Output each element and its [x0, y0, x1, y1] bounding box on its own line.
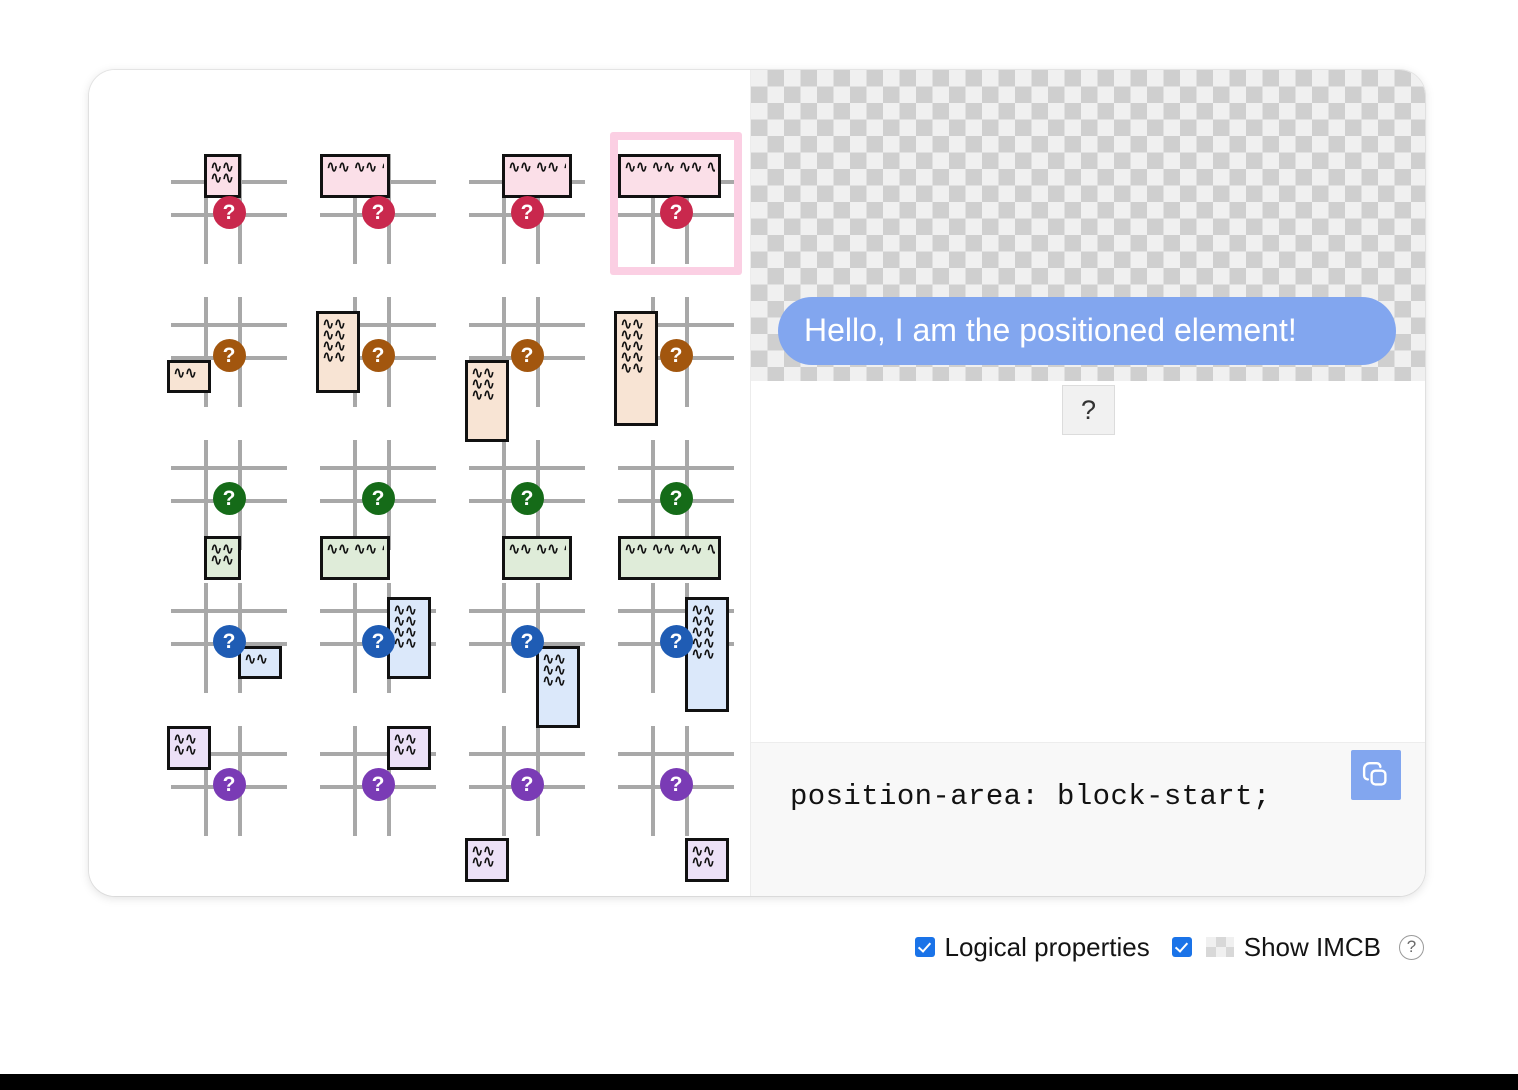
anchor-marker-icon: ? [213, 625, 246, 658]
squiggle-text-icon: ∿∿ [620, 362, 652, 375]
squiggle-text-icon: ∿∿ ∿∿ ∿∿ [326, 161, 384, 174]
containing-block-grid-icon: ∿∿∿∿? [163, 440, 295, 550]
containing-block-grid-icon: ∿∿∿∿∿∿∿∿∿∿? [610, 297, 742, 407]
position-area-option[interactable]: ∿∿∿∿? [163, 704, 295, 847]
anchor-marker-icon: ? [660, 339, 693, 372]
code-declaration: position-area: block-start; [790, 780, 1271, 813]
anchor-marker-icon: ? [660, 196, 693, 229]
positioned-box-icon: ∿∿∿∿ [465, 838, 509, 882]
grid-rail [618, 752, 734, 756]
grid-rail [171, 323, 287, 327]
containing-block-grid-icon: ∿∿∿∿? [163, 726, 295, 836]
squiggle-text-icon: ∿∿ [393, 744, 425, 757]
positioned-box-icon: ∿∿∿∿ [204, 536, 241, 580]
containing-block-grid-icon: ∿∿? [163, 583, 295, 693]
anchor-marker-icon: ? [660, 625, 693, 658]
anchor-marker-icon: ? [362, 625, 395, 658]
positioned-box-icon: ∿∿ ∿∿ ∿∿ [502, 154, 572, 198]
containing-block-grid-icon: ∿∿? [163, 297, 295, 407]
grid-rail [651, 726, 655, 836]
squiggle-text-icon: ∿∿ [471, 389, 503, 402]
code-panel: position-area: block-start; [751, 742, 1425, 896]
anchor-marker-icon: ? [362, 339, 395, 372]
squiggle-text-icon: ∿∿ [210, 172, 235, 185]
squiggle-text-icon: ∿∿ [393, 637, 425, 650]
squiggle-text-icon: ∿∿ [542, 675, 574, 688]
containing-block-grid-icon: ∿∿∿∿∿∿∿∿∿∿? [610, 583, 742, 693]
grid-rail [618, 466, 734, 470]
visualizer-card: ∿∿∿∿?∿∿ ∿∿ ∿∿?∿∿ ∿∿ ∿∿?∿∿ ∿∿ ∿∿ ∿∿?∿∿?∿∿… [89, 70, 1425, 896]
grid-rail [469, 752, 585, 756]
positioned-box-icon: ∿∿ ∿∿ ∿∿ [320, 536, 390, 580]
positioned-box-icon: ∿∿∿∿∿∿ [465, 360, 509, 442]
position-area-option[interactable]: ∿∿ ∿∿ ∿∿? [312, 132, 444, 275]
grid-rail [502, 726, 506, 836]
anchor-marker-icon: ? [213, 768, 246, 801]
position-area-option[interactable]: ∿∿∿∿∿∿? [461, 275, 593, 418]
squiggle-text-icon: ∿∿ [471, 856, 503, 869]
grid-rail [353, 440, 357, 550]
position-area-option[interactable]: ∿∿ ∿∿ ∿∿ ∿∿? [610, 132, 742, 275]
grid-rail [320, 466, 436, 470]
anchor-marker-icon: ? [213, 482, 246, 515]
positioned-box-icon: ∿∿∿∿ [387, 726, 431, 770]
containing-block-grid-icon: ∿∿ ∿∿ ∿∿? [461, 440, 593, 550]
anchor-marker-icon: ? [511, 196, 544, 229]
squiggle-text-icon: ∿∿ ∿∿ ∿∿ [326, 543, 384, 556]
containing-block-grid-icon: ∿∿∿∿∿∿? [461, 583, 593, 693]
containing-block-grid-icon: ∿∿∿∿∿∿? [461, 297, 593, 407]
squiggle-text-icon: ∿∿ ∿∿ ∿∿ ∿∿ [624, 543, 715, 556]
anchor-marker-icon: ? [511, 482, 544, 515]
show-imcb-control[interactable]: Show IMCB ? [1172, 932, 1424, 963]
containing-block-grid-icon: ∿∿∿∿∿∿∿∿? [312, 583, 444, 693]
grid-rail [353, 726, 357, 836]
position-area-option[interactable]: ∿∿? [163, 275, 295, 418]
containing-block-grid-icon: ∿∿∿∿? [461, 726, 593, 836]
grid-rail [469, 466, 585, 470]
position-area-option[interactable]: ∿∿∿∿? [163, 132, 295, 275]
position-area-option[interactable]: ∿∿∿∿? [610, 704, 742, 847]
squiggle-text-icon: ∿∿ ∿∿ ∿∿ [508, 161, 566, 174]
anchor-marker-icon: ? [362, 482, 395, 515]
position-area-option[interactable]: ∿∿? [163, 561, 295, 704]
positioned-box-icon: ∿∿∿∿∿∿∿∿ [316, 311, 360, 393]
position-area-grid[interactable]: ∿∿∿∿?∿∿ ∿∿ ∿∿?∿∿ ∿∿ ∿∿?∿∿ ∿∿ ∿∿ ∿∿?∿∿?∿∿… [163, 132, 742, 847]
anchor-marker-icon: ? [213, 339, 246, 372]
containing-block-grid-icon: ∿∿∿∿? [610, 726, 742, 836]
squiggle-text-icon: ∿∿ [210, 554, 235, 567]
logical-properties-control[interactable]: Logical properties [915, 932, 1150, 963]
positioned-element-bubble: Hello, I am the positioned element! [778, 297, 1396, 365]
grid-rail [651, 583, 655, 693]
positioned-box-icon: ∿∿ ∿∿ ∿∿ ∿∿ [618, 154, 721, 198]
logical-properties-checkbox[interactable] [915, 937, 935, 957]
position-area-option[interactable]: ∿∿∿∿∿∿∿∿? [312, 275, 444, 418]
anchor-marker-icon: ? [660, 768, 693, 801]
grid-rail [502, 583, 506, 693]
position-area-option[interactable]: ∿∿∿∿∿∿? [461, 561, 593, 704]
positioned-box-icon: ∿∿ [238, 646, 282, 679]
anchor-marker-icon: ? [660, 482, 693, 515]
containing-block-grid-icon: ∿∿ ∿∿ ∿∿? [312, 440, 444, 550]
squiggle-text-icon: ∿∿ [691, 648, 723, 661]
grid-rail [502, 440, 506, 550]
grid-rail [171, 609, 287, 613]
app-root: ∿∿∿∿?∿∿ ∿∿ ∿∿?∿∿ ∿∿ ∿∿?∿∿ ∿∿ ∿∿ ∿∿?∿∿?∿∿… [0, 0, 1518, 1090]
copy-icon[interactable] [1351, 750, 1401, 800]
squiggle-text-icon: ∿∿ [244, 653, 276, 666]
checkerboard-swatch-icon [1206, 937, 1234, 957]
containing-block-grid-icon: ∿∿∿∿∿∿∿∿? [312, 297, 444, 407]
squiggle-text-icon: ∿∿ [691, 856, 723, 869]
help-icon[interactable]: ? [1399, 935, 1424, 960]
grid-rail [353, 583, 357, 693]
squiggle-text-icon: ∿∿ ∿∿ ∿∿ [508, 543, 566, 556]
positioned-box-icon: ∿∿ ∿∿ ∿∿ ∿∿ [618, 536, 721, 580]
containing-block-grid-icon: ∿∿∿∿? [163, 154, 295, 264]
anchor-marker-icon: ? [511, 768, 544, 801]
anchor-marker-icon: ? [213, 196, 246, 229]
logical-properties-label: Logical properties [945, 932, 1150, 963]
grid-rail [204, 440, 208, 550]
squiggle-text-icon: ∿∿ ∿∿ ∿∿ ∿∿ [624, 161, 715, 174]
position-area-picker-pane: ∿∿∿∿?∿∿ ∿∿ ∿∿?∿∿ ∿∿ ∿∿?∿∿ ∿∿ ∿∿ ∿∿?∿∿?∿∿… [89, 70, 751, 896]
show-imcb-checkbox[interactable] [1172, 937, 1192, 957]
squiggle-text-icon: ∿∿ [173, 744, 205, 757]
anchor-marker-icon: ? [362, 196, 395, 229]
anchor-marker-icon: ? [511, 625, 544, 658]
squiggle-text-icon: ∿∿ [322, 351, 354, 364]
positioned-box-icon: ∿∿∿∿ [167, 726, 211, 770]
bottom-letterbox [0, 1074, 1518, 1090]
containing-block-grid-icon: ∿∿ ∿∿ ∿∿ ∿∿? [610, 154, 742, 264]
containing-block-grid-icon: ∿∿ ∿∿ ∿∿? [461, 154, 593, 264]
grid-rail [651, 440, 655, 550]
preview-pane: Hello, I am the positioned element! ? po… [751, 70, 1425, 896]
positioned-box-icon: ∿∿∿∿∿∿∿∿∿∿ [614, 311, 658, 426]
position-area-option[interactable]: ∿∿∿∿? [312, 704, 444, 847]
grid-rail [469, 609, 585, 613]
positioned-box-icon: ∿∿∿∿∿∿∿∿∿∿ [685, 597, 729, 712]
positioned-box-icon: ∿∿ [167, 360, 211, 393]
position-area-option[interactable]: ∿∿∿∿∿∿∿∿∿∿? [610, 561, 742, 704]
grid-rail [469, 323, 585, 327]
containing-block-grid-icon: ∿∿ ∿∿ ∿∿? [312, 154, 444, 264]
anchor-element[interactable]: ? [1062, 385, 1115, 435]
positioned-box-icon: ∿∿ ∿∿ ∿∿ [320, 154, 390, 198]
position-area-option[interactable]: ∿∿ ∿∿ ∿∿? [461, 132, 593, 275]
copy-icon-glyph [1361, 760, 1391, 790]
grid-rail [171, 466, 287, 470]
containing-block-grid-icon: ∿∿∿∿? [312, 726, 444, 836]
squiggle-text-icon: ∿∿ [173, 367, 205, 380]
containing-block-grid-icon: ∿∿ ∿∿ ∿∿ ∿∿? [610, 440, 742, 550]
footer-controls: Logical properties Show IMCB ? [0, 924, 1518, 970]
anchor-marker-icon: ? [362, 768, 395, 801]
anchor-marker-icon: ? [511, 339, 544, 372]
positioned-box-icon: ∿∿ ∿∿ ∿∿ [502, 536, 572, 580]
position-area-option[interactable]: ∿∿ ∿∿ ∿∿? [312, 418, 444, 561]
positioned-box-icon: ∿∿∿∿ [204, 154, 241, 198]
positioned-box-icon: ∿∿∿∿∿∿ [536, 646, 580, 728]
position-area-option[interactable]: ∿∿∿∿? [163, 418, 295, 561]
positioned-box-icon: ∿∿∿∿ [685, 838, 729, 882]
position-area-option[interactable]: ∿∿ ∿∿ ∿∿ ∿∿? [610, 418, 742, 561]
position-area-option[interactable]: ∿∿∿∿∿∿∿∿? [312, 561, 444, 704]
show-imcb-label: Show IMCB [1244, 932, 1381, 963]
position-area-option[interactable]: ∿∿∿∿∿∿∿∿∿∿? [610, 275, 742, 418]
grid-rail [204, 583, 208, 693]
